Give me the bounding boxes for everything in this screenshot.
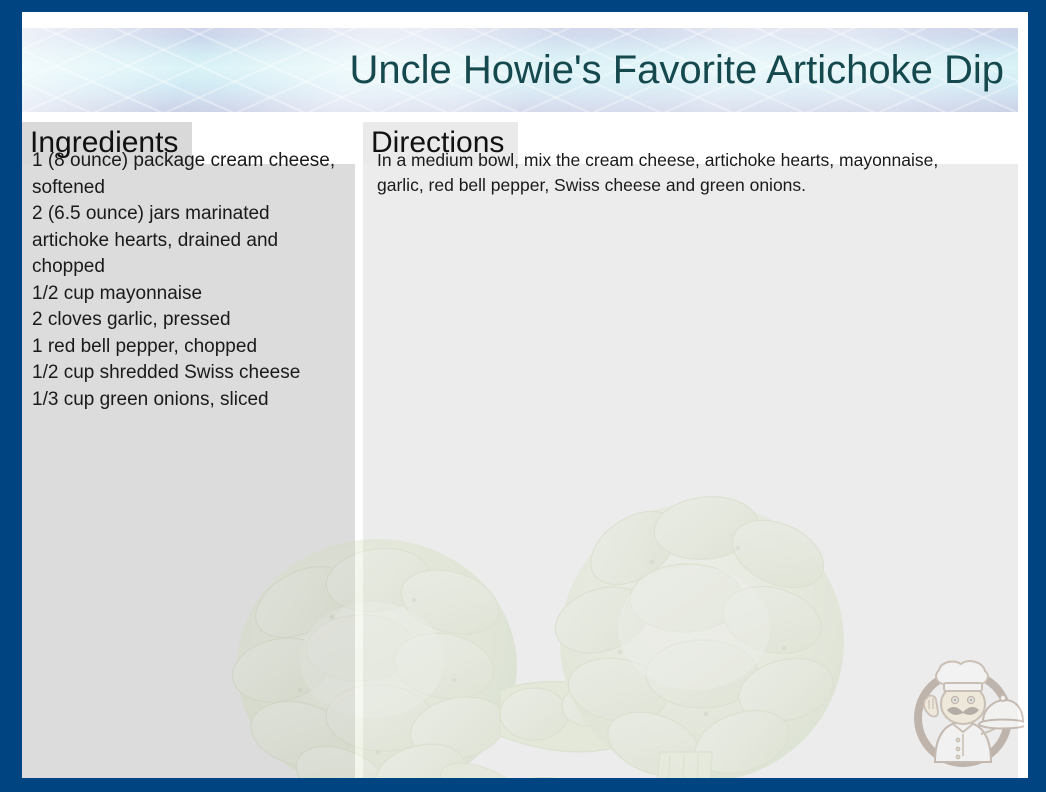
- slide-page: Uncle Howie's Favorite Artichoke Dip Ing…: [22, 12, 1028, 778]
- list-item: 1/2 cup shredded Swiss cheese: [32, 360, 345, 387]
- list-item: 2 cloves garlic, pressed: [32, 307, 345, 334]
- list-item: 1/2 cup mayonnaise: [32, 281, 345, 308]
- directions-column: Directions In a medium bowl, mix the cre…: [363, 122, 1018, 778]
- list-item: 1/3 cup green onions, sliced: [32, 387, 345, 414]
- directions-panel: [363, 164, 1018, 778]
- ingredients-list: 1 (8 ounce) package cream cheese, soften…: [22, 122, 355, 413]
- title-banner: Uncle Howie's Favorite Artichoke Dip: [22, 28, 1018, 112]
- page-title: Uncle Howie's Favorite Artichoke Dip: [349, 50, 1004, 90]
- directions-step: In a medium bowl, mix the cream cheese, …: [373, 148, 1008, 198]
- recipe-slide: Uncle Howie's Favorite Artichoke Dip Ing…: [0, 0, 1046, 792]
- list-item: 1 red bell pepper, chopped: [32, 334, 345, 361]
- content-columns: Ingredients 1 (8 ounce) package cream ch…: [22, 122, 1018, 778]
- list-item: 1 (8 ounce) package cream cheese, soften…: [32, 148, 345, 201]
- ingredients-column: Ingredients 1 (8 ounce) package cream ch…: [22, 122, 355, 778]
- directions-body: In a medium bowl, mix the cream cheese, …: [363, 122, 1018, 198]
- list-item: 2 (6.5 ounce) jars marinated artichoke h…: [32, 201, 345, 281]
